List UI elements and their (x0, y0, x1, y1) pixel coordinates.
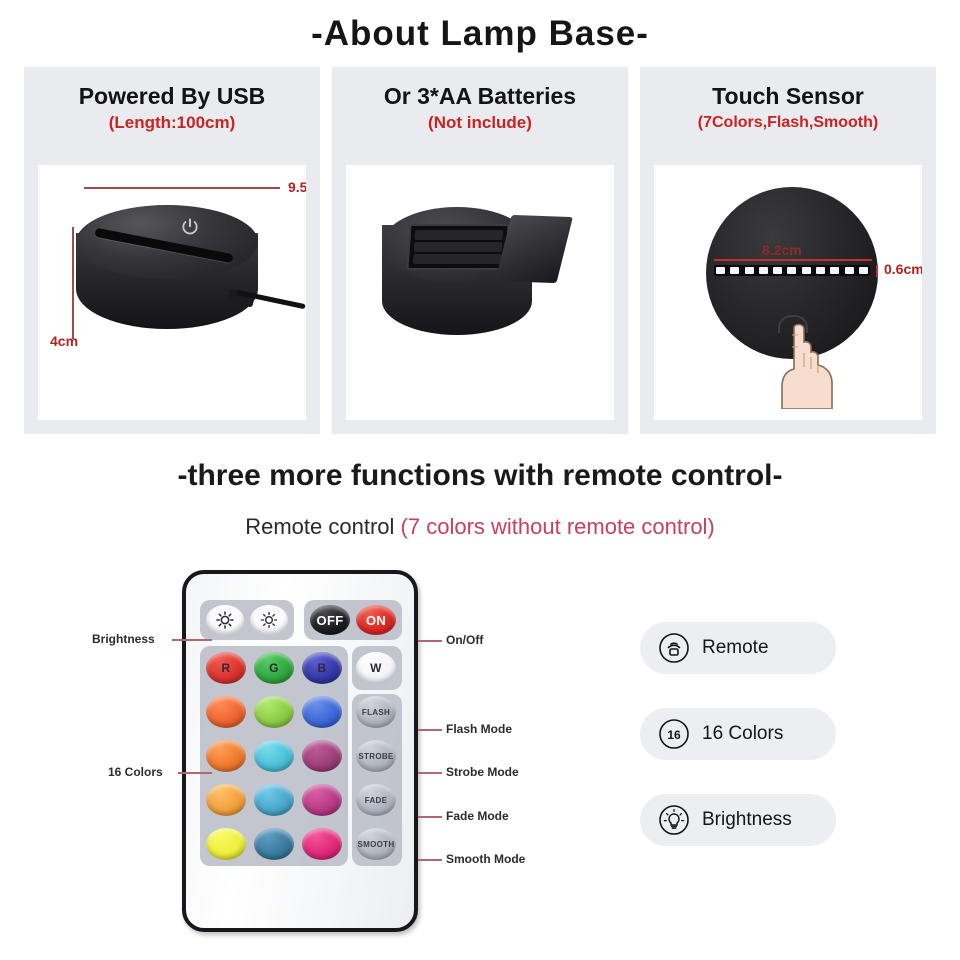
battery-bay (406, 224, 509, 270)
remote-button-color-2-2[interactable] (254, 696, 294, 728)
remote-button-color-3-3[interactable] (302, 740, 342, 772)
callout-on-off: On/Off (446, 633, 483, 647)
remote-button-color-white[interactable]: W (356, 652, 396, 684)
panel-touch-head: Touch Sensor (7Colors,Flash,Smooth) (640, 67, 936, 132)
power-icon (180, 217, 200, 237)
remote-button-on-label: ON (356, 605, 396, 635)
callout-16-colors-line (178, 772, 212, 774)
led-height-dim-label: 0.6cm (884, 261, 922, 277)
feature-pill-remote-label: Remote (702, 637, 769, 659)
remote-button-color-2-1[interactable] (206, 696, 246, 728)
remote-button-color-3-2[interactable] (254, 740, 294, 772)
remote-button-brightness-down[interactable] (250, 605, 288, 635)
lamp-base-battery-compartment-photo (346, 165, 614, 420)
callout-brightness-line (172, 639, 212, 641)
remote-button-green-label: G (254, 652, 294, 684)
remote-button-color-5-1[interactable] (206, 828, 246, 860)
remote-button-white-label: W (356, 652, 396, 684)
width-dim-line (84, 187, 280, 189)
remote-button-color-4-1[interactable] (206, 784, 246, 816)
remote-button-color-5-2[interactable] (254, 828, 294, 860)
page-title: -About Lamp Base- (0, 14, 960, 54)
remote-button-strobe[interactable]: STROBE (356, 740, 396, 772)
panel-touch-title: Touch Sensor (640, 84, 936, 109)
feature-pill-brightness-label: Brightness (702, 809, 792, 831)
led-strip (714, 265, 870, 276)
feature-pill-brightness[interactable]: Brightness (640, 794, 836, 846)
remote-button-color-2-3[interactable] (302, 696, 342, 728)
remote-button-on[interactable]: ON (356, 605, 396, 635)
remote-button-color-red[interactable]: R (206, 652, 246, 684)
remote-section-subtitle: Remote control (7 colors without remote … (0, 514, 960, 540)
infographic-page: -About Lamp Base- Powered By USB (Length… (0, 0, 960, 960)
remote-button-red-label: R (206, 652, 246, 684)
feature-pill-list: Remote 16 16 Colors Brightness (640, 622, 836, 880)
panel-touch-subtitle: (7Colors,Flash,Smooth) (640, 114, 936, 132)
remote-section-title: -three more functions with remote contro… (0, 459, 960, 493)
remote-button-off-label: OFF (310, 605, 350, 635)
lamp-base-touch-sensor-photo: 8.2cm 0.6cm (654, 165, 922, 420)
feature-pill-remote[interactable]: Remote (640, 622, 836, 674)
panel-usb: Powered By USB (Length:100cm) 9.5cm 4cm (24, 67, 320, 434)
feature-pill-16-colors[interactable]: 16 16 Colors (640, 708, 836, 760)
panel-usb-head: Powered By USB (Length:100cm) (24, 67, 320, 133)
remote-button-flash[interactable]: FLASH (356, 696, 396, 728)
remote-button-strobe-label: STROBE (356, 740, 396, 772)
led-width-dim-line (714, 259, 872, 261)
remote-button-smooth[interactable]: SMOOTH (356, 828, 396, 860)
feature-pill-16-colors-label: 16 Colors (702, 723, 783, 745)
remote-button-color-4-2[interactable] (254, 784, 294, 816)
panel-touch-sensor: Touch Sensor (7Colors,Flash,Smooth) 8.2c… (640, 67, 936, 434)
remote-button-blue-label: B (302, 652, 342, 684)
remote-button-color-blue[interactable]: B (302, 652, 342, 684)
remote-button-color-4-3[interactable] (302, 784, 342, 816)
led-height-dim-line (876, 265, 878, 277)
remote-button-color-3-1[interactable] (206, 740, 246, 772)
feature-panels: Powered By USB (Length:100cm) 9.5cm 4cm (24, 67, 936, 434)
remote-button-brightness-up[interactable] (206, 605, 244, 635)
touch-base-illustration: 8.2cm 0.6cm (706, 187, 882, 367)
remote-button-flash-label: FLASH (356, 696, 396, 728)
lamp-base-illustration (68, 205, 268, 345)
callout-smooth-line (418, 859, 442, 861)
panel-batteries-title: Or 3*AA Batteries (332, 84, 628, 109)
callout-strobe-line (418, 772, 442, 774)
lamp-base-usb-photo: 9.5cm 4cm (38, 165, 306, 420)
panel-usb-title: Powered By USB (24, 84, 320, 109)
svg-text:16: 16 (667, 728, 681, 742)
panel-batteries-head: Or 3*AA Batteries (Not include) (332, 67, 628, 133)
battery-base-illustration (382, 207, 572, 357)
remote-button-off[interactable]: OFF (310, 605, 350, 635)
sun-icon (259, 610, 279, 630)
width-dim-label: 9.5cm (288, 179, 306, 195)
panel-usb-subtitle: (Length:100cm) (24, 114, 320, 133)
callout-flash-line (418, 729, 442, 731)
led-width-dim-label: 8.2cm (762, 242, 802, 258)
remote-button-smooth-label: SMOOTH (356, 828, 396, 860)
panel-batteries: Or 3*AA Batteries (Not include) (332, 67, 628, 434)
callout-on-off-line (418, 640, 442, 642)
remote-button-color-5-3[interactable] (302, 828, 342, 860)
remote-control: OFF ON R G B W FLA (182, 570, 418, 932)
callout-16-colors: 16 Colors (108, 765, 163, 779)
callout-brightness: Brightness (92, 632, 155, 646)
callout-strobe-mode: Strobe Mode (446, 765, 519, 779)
remote-signal-icon (658, 632, 690, 664)
callout-flash-mode: Flash Mode (446, 722, 512, 736)
callout-fade-mode: Fade Mode (446, 809, 509, 823)
remote-button-color-green[interactable]: G (254, 652, 294, 684)
battery-cell (414, 242, 503, 252)
remote-subtitle-highlight: (7 colors without remote control) (401, 514, 715, 539)
remote-button-fade-label: FADE (356, 784, 396, 816)
lightbulb-icon (658, 804, 690, 836)
battery-cell (414, 230, 503, 240)
pointing-hand-icon (768, 317, 854, 409)
remote-button-fade[interactable]: FADE (356, 784, 396, 816)
battery-cell (413, 254, 502, 264)
remote-subtitle-prefix: Remote control (245, 514, 400, 539)
panel-batteries-subtitle: (Not include) (332, 114, 628, 133)
sun-icon (215, 610, 235, 630)
callout-fade-line (418, 816, 442, 818)
callout-smooth-mode: Smooth Mode (446, 852, 525, 866)
sixteen-circle-icon: 16 (658, 718, 690, 750)
